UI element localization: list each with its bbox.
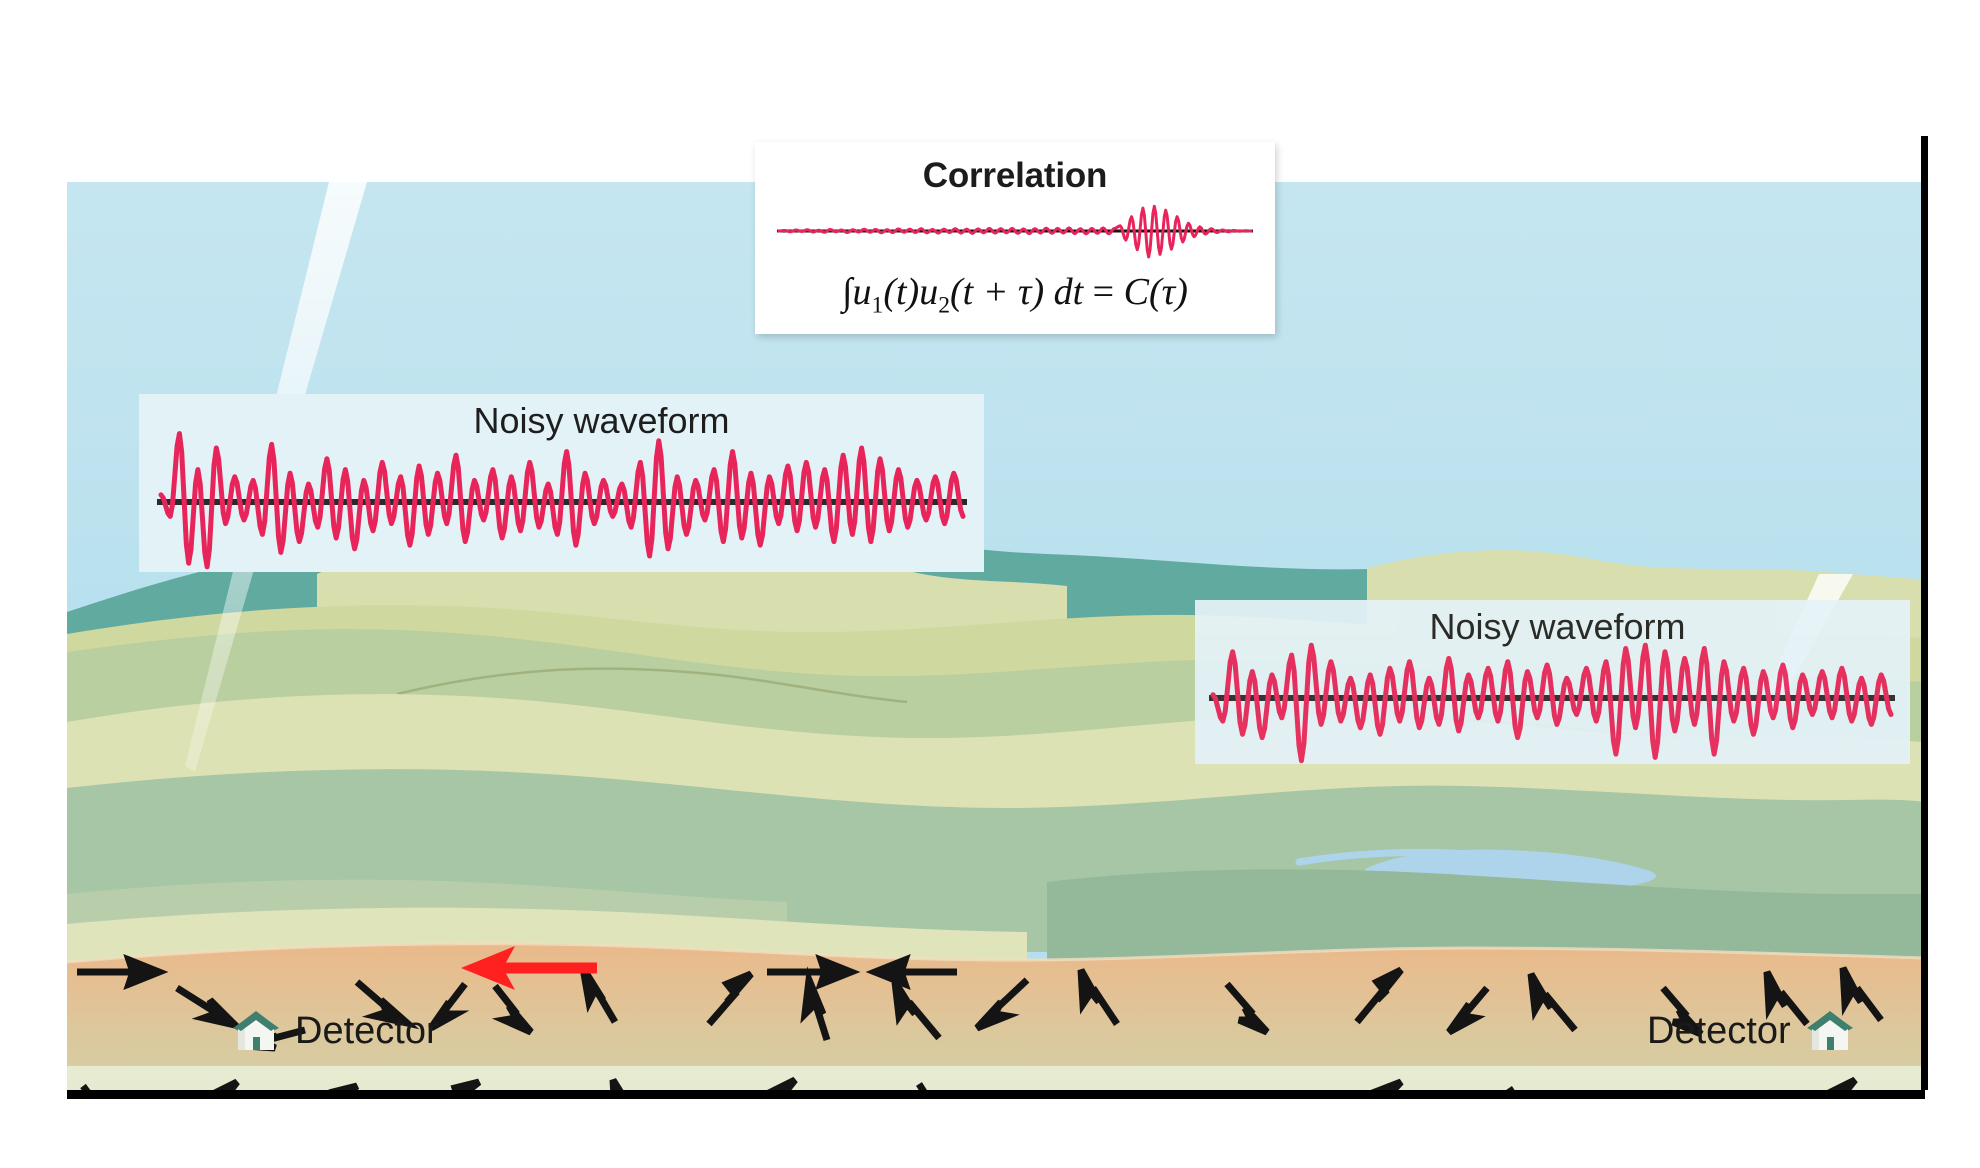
detector-left-label: Detector [295,1010,439,1053]
formula-t1: (t) [883,271,919,313]
correlation-trace [779,206,1251,257]
correlation-formula: ∫u1(t)u2(t + τ) dt = C(τ) [755,270,1275,320]
formula-sub2: 2 [938,293,950,319]
formula-sub1: 1 [872,293,884,319]
formula-u1: u [853,271,872,313]
detector-left[interactable]: Detector [227,1008,439,1054]
bottom-border-rule [67,1090,1925,1099]
formula-result: C(τ) [1124,271,1188,313]
figure-canvas: Detector Detector Noisy waveform Noisy w… [0,0,1980,1168]
detector-right-label: Detector [1647,1010,1791,1053]
noisy-waveform-right-plot [1195,600,1910,764]
noisy-waveform-left-callout: Noisy waveform [139,394,984,572]
detector-right[interactable]: Detector [1647,1008,1859,1054]
formula-t2: (t + τ) [950,271,1044,313]
formula-dt: dt [1054,271,1084,313]
house-icon [227,1008,285,1054]
right-border-rule [1921,136,1928,1090]
correlation-plot [773,200,1257,262]
formula-u2: u [919,271,938,313]
correlation-callout: Correlation ∫u1(t)u2(t + τ) dt = C(τ) [755,142,1275,334]
correlation-title: Correlation [755,156,1275,196]
noisy-waveform-right-callout: Noisy waveform [1195,600,1910,764]
noisy-waveform-left-plot [139,394,984,572]
waveform-trace [1213,645,1891,761]
house-icon [1801,1008,1859,1054]
formula-equals: = [1093,271,1114,313]
formula-integral: ∫ [842,271,852,313]
